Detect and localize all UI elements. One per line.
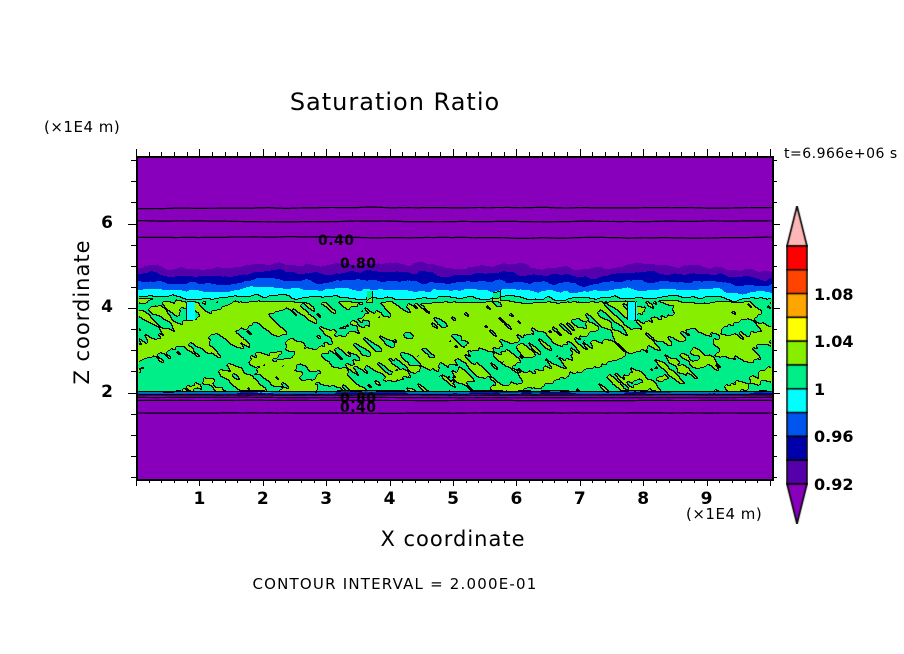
x-axis-tick-top [161, 152, 162, 156]
y-axis-tick-right [772, 477, 777, 478]
x-axis-tick [618, 479, 619, 483]
x-axis-tick-label: 8 [623, 489, 663, 509]
x-axis-tick [732, 479, 733, 483]
x-axis-tick-top [275, 152, 276, 156]
x-axis-tick [440, 479, 441, 483]
y-axis-tick [131, 245, 136, 246]
x-axis-tick [719, 479, 720, 483]
x-axis-tick-top [643, 149, 644, 156]
x-axis-tick [643, 479, 644, 486]
y-axis-tick-right [772, 456, 777, 457]
x-axis-tick [631, 479, 632, 483]
colorbar-canvas [786, 206, 808, 524]
x-axis-tick [694, 479, 695, 483]
y-axis-tick [128, 393, 136, 394]
x-axis-tick [580, 479, 581, 486]
y-axis-tick-right [772, 308, 780, 309]
x-axis-tick-label: 7 [560, 489, 600, 509]
y-axis-tick-right [772, 435, 777, 436]
x-axis-tick [263, 479, 264, 486]
x-axis-tick [187, 479, 188, 483]
x-axis-tick-top [529, 152, 530, 156]
x-axis-tick [669, 479, 670, 483]
x-axis-tick-label: 5 [433, 489, 473, 509]
x-axis-tick [326, 479, 327, 486]
x-axis-tick-top [732, 152, 733, 156]
y-axis-tick-label: 4 [92, 297, 122, 317]
x-axis-title: X coordinate [136, 527, 770, 551]
x-axis-tick-top [554, 152, 555, 156]
x-axis-tick-top [326, 149, 327, 156]
y-axis-tick [128, 224, 136, 225]
x-axis-tick-top [288, 152, 289, 156]
x-axis-tick-label: 6 [496, 489, 536, 509]
y-unit-label: (×1E4 m) [44, 118, 120, 136]
x-axis-tick-top [364, 152, 365, 156]
y-axis-tick-label: 6 [92, 213, 122, 233]
x-axis-tick-top [656, 152, 657, 156]
x-axis-tick-top [453, 149, 454, 156]
x-axis-tick-top [415, 152, 416, 156]
x-axis-tick [529, 479, 530, 483]
x-axis-tick [491, 479, 492, 483]
y-axis-tick-right [772, 266, 777, 267]
x-axis-tick [339, 479, 340, 483]
y-axis-tick [131, 202, 136, 203]
x-axis-tick-top [237, 152, 238, 156]
colorbar-tick-label: 0.92 [814, 475, 853, 494]
x-axis-tick-top [199, 149, 200, 156]
x-axis-tick-top [314, 152, 315, 156]
x-axis-tick-top [618, 152, 619, 156]
y-axis-tick [131, 477, 136, 478]
y-axis-tick [131, 350, 136, 351]
x-axis-tick-top [707, 149, 708, 156]
x-axis-tick [199, 479, 200, 486]
x-axis-tick [364, 479, 365, 483]
x-axis-tick-top [592, 152, 593, 156]
x-axis-tick-top [491, 152, 492, 156]
y-axis-tick [131, 414, 136, 415]
x-axis-tick [478, 479, 479, 483]
x-axis-tick-label: 3 [306, 489, 346, 509]
x-axis-tick-top [250, 152, 251, 156]
x-axis-tick [149, 479, 150, 483]
colorbar-tick-label: 1 [814, 380, 825, 399]
x-axis-tick [516, 479, 517, 486]
x-axis-tick [174, 479, 175, 483]
x-axis-tick [605, 479, 606, 483]
x-axis-tick [504, 479, 505, 483]
y-axis-tick-right [772, 329, 777, 330]
x-axis-tick-label: 2 [243, 489, 283, 509]
x-axis-tick [542, 479, 543, 483]
x-axis-tick [250, 479, 251, 483]
x-axis-tick-top [263, 149, 264, 156]
x-axis-tick-top [402, 152, 403, 156]
colorbar-tick-label: 0.96 [814, 427, 853, 446]
x-axis-tick [225, 479, 226, 483]
colorbar-tick-label: 1.04 [814, 332, 853, 351]
y-axis-tick-right [772, 414, 777, 415]
contour-field-canvas [138, 158, 772, 479]
x-axis-tick [707, 479, 708, 486]
y-axis-tick-right [772, 160, 777, 161]
y-axis-title: Z coordinate [70, 202, 94, 422]
y-axis-tick-label: 2 [92, 382, 122, 402]
x-axis-tick [161, 479, 162, 483]
x-axis-tick [466, 479, 467, 483]
x-axis-tick-top [301, 152, 302, 156]
colorbar-tick-label: 1.08 [814, 285, 853, 304]
x-axis-tick-top [466, 152, 467, 156]
x-axis-tick-top [390, 149, 391, 156]
time-stamp-label: t=6.966e+06 s [784, 146, 898, 162]
x-axis-tick [745, 479, 746, 483]
x-axis-tick [402, 479, 403, 483]
contour-value-label: 0.80 [340, 256, 377, 272]
x-axis-tick [567, 479, 568, 483]
x-axis-tick-top [440, 152, 441, 156]
x-axis-tick-top [694, 152, 695, 156]
x-axis-tick-top [212, 152, 213, 156]
x-axis-tick [757, 479, 758, 483]
x-axis-tick-top [339, 152, 340, 156]
y-axis-tick-right [772, 181, 777, 182]
y-axis-tick-right [772, 393, 780, 394]
x-axis-tick-top [478, 152, 479, 156]
y-axis-tick-right [772, 287, 777, 288]
contour-value-label: 0.40 [340, 400, 377, 416]
x-axis-tick-label: 4 [370, 489, 410, 509]
x-axis-tick-top [225, 152, 226, 156]
x-axis-tick-top [770, 149, 771, 156]
y-axis-tick [131, 181, 136, 182]
x-axis-tick [415, 479, 416, 483]
x-axis-tick-top [719, 152, 720, 156]
contour-plot-area [136, 156, 774, 481]
y-axis-tick [131, 435, 136, 436]
x-axis-tick-top [516, 149, 517, 156]
x-axis-tick [237, 479, 238, 483]
x-axis-tick-top [149, 152, 150, 156]
y-axis-tick [131, 160, 136, 161]
x-axis-tick-top [504, 152, 505, 156]
y-axis-tick [131, 287, 136, 288]
colorbar [786, 206, 808, 524]
x-axis-tick-top [757, 152, 758, 156]
page-title: Saturation Ratio [0, 88, 790, 116]
contour-value-label: 0.40 [318, 233, 355, 249]
x-axis-tick-label: 9 [687, 489, 727, 509]
y-axis-tick [131, 329, 136, 330]
x-axis-tick-top [352, 152, 353, 156]
x-axis-tick-top [187, 152, 188, 156]
x-axis-tick [554, 479, 555, 483]
x-axis-tick [453, 479, 454, 486]
x-axis-tick-top [681, 152, 682, 156]
contour-interval-caption: CONTOUR INTERVAL = 2.000E-01 [0, 575, 790, 593]
x-axis-tick [275, 479, 276, 483]
x-axis-tick-top [542, 152, 543, 156]
x-axis-tick-top [428, 152, 429, 156]
x-axis-tick [212, 479, 213, 483]
y-axis-tick-right [772, 224, 780, 225]
x-axis-tick-top [580, 149, 581, 156]
x-axis-tick-top [669, 152, 670, 156]
y-axis-tick [131, 456, 136, 457]
y-axis-tick-right [772, 202, 777, 203]
x-axis-tick [377, 479, 378, 483]
x-axis-tick [314, 479, 315, 483]
x-axis-tick-top [174, 152, 175, 156]
x-axis-tick [301, 479, 302, 483]
x-axis-tick-top [745, 152, 746, 156]
x-axis-tick-top [567, 152, 568, 156]
x-axis-tick-top [136, 149, 137, 156]
x-axis-tick-top [605, 152, 606, 156]
x-axis-tick [288, 479, 289, 483]
y-axis-tick-right [772, 245, 777, 246]
x-axis-tick [428, 479, 429, 483]
x-axis-tick [390, 479, 391, 486]
y-axis-tick [131, 371, 136, 372]
x-axis-tick-top [631, 152, 632, 156]
y-axis-tick-right [772, 371, 777, 372]
x-axis-tick [770, 479, 771, 486]
x-axis-tick [656, 479, 657, 483]
y-axis-tick [128, 308, 136, 309]
x-axis-tick-label: 1 [179, 489, 219, 509]
x-axis-tick [136, 479, 137, 486]
y-axis-tick-right [772, 350, 777, 351]
x-axis-tick-top [377, 152, 378, 156]
y-axis-tick [131, 266, 136, 267]
x-axis-tick [681, 479, 682, 483]
x-axis-tick [352, 479, 353, 483]
x-axis-tick [592, 479, 593, 483]
